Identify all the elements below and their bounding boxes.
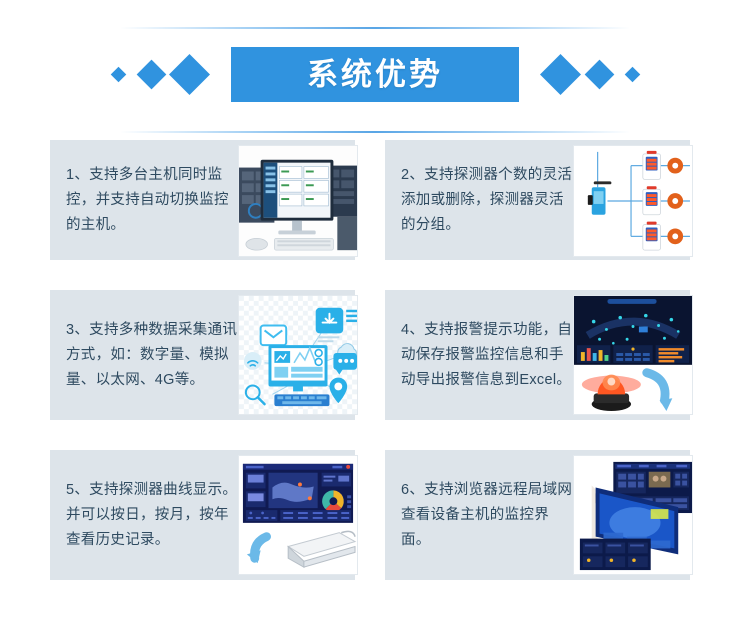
page-title-banner: 系统优势 — [231, 47, 519, 102]
advantage-card-3-label: 3、支持多种数据采集通讯方式，如：数字量、模拟量、以太网、4G等。 — [66, 318, 241, 393]
advantage-card-2: 2、支持探测器个数的灵活添加或删除，探测器灵活的分组。 — [385, 140, 690, 260]
advantage-card-1: 1、支持多台主机同时监控，并支持自动切换监控的主机。 — [50, 140, 355, 260]
advantage-card-6: 6、支持浏览器远程局域网查看设备主机的监控界面。 — [385, 450, 690, 580]
diamond-small-left-icon — [111, 67, 127, 83]
advantage-card-2-label: 2、支持探测器个数的灵活添加或删除，探测器灵活的分组。 — [401, 163, 576, 238]
page-title: 系统优势 — [307, 59, 443, 90]
alarm-beacon-dashboard-photo — [573, 295, 693, 415]
multi-host-monitor-screens-photo — [238, 145, 358, 257]
advantage-card-4: 4、支持报警提示功能，自动保存报警监控信息和手动导出报警信息到Excel。 — [385, 290, 690, 420]
remote-browser-screens-photo — [573, 455, 693, 575]
diamond-medium-right-icon — [585, 60, 615, 90]
diamond-small-right-icon — [625, 67, 641, 83]
advantage-card-3: 3、支持多种数据采集通讯方式，如：数字量、模拟量、以太网、4G等。 — [50, 290, 355, 420]
advantage-card-5: 5、支持探测器曲线显示。并可以按日，按月，按年查看历史记录。 — [50, 450, 355, 580]
diamond-large-right-icon — [540, 54, 581, 95]
advantage-card-grid: 1、支持多台主机同时监控，并支持自动切换监控的主机。 — [0, 140, 750, 580]
cloud-connectivity-illustration — [238, 295, 358, 415]
header-divider-bottom — [120, 131, 630, 133]
page-header: 系统优势 — [0, 0, 750, 140]
header-divider-top — [120, 27, 630, 29]
advantage-card-6-label: 6、支持浏览器远程局域网查看设备主机的监控界面。 — [401, 478, 576, 553]
advantage-card-5-label: 5、支持探测器曲线显示。并可以按日，按月，按年查看历史记录。 — [66, 478, 241, 553]
advantage-card-4-label: 4、支持报警提示功能，自动保存报警监控信息和手动导出报警信息到Excel。 — [401, 318, 576, 393]
history-dashboard-harddrive-photo — [238, 455, 358, 575]
advantage-card-1-label: 1、支持多台主机同时监控，并支持自动切换监控的主机。 — [66, 163, 241, 238]
diamond-large-left-icon — [169, 54, 210, 95]
diamond-medium-left-icon — [137, 60, 167, 90]
detector-network-diagram — [573, 145, 693, 257]
